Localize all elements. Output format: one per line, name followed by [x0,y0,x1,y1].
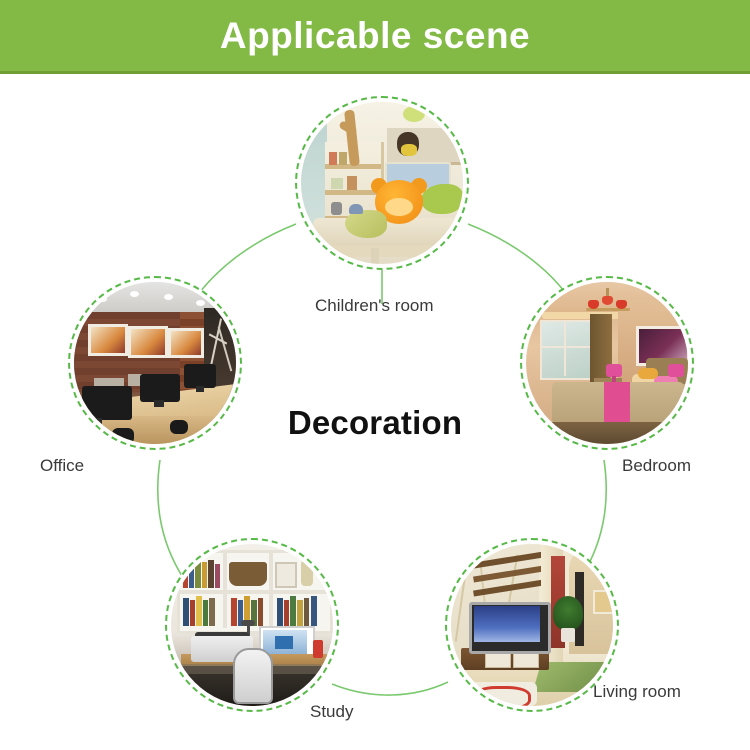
scene-label-children-room: Children's room [315,296,434,316]
children-room-photo [301,102,463,264]
scene-label-study: Study [310,702,353,722]
office-photo [74,282,236,444]
scene-label-living-room: Living room [593,682,681,702]
scene-circle-children-room[interactable] [295,96,469,270]
center-title: Decoration [250,404,500,442]
scene-circle-study[interactable] [165,538,339,712]
study-photo [171,544,333,706]
scene-circle-bedroom[interactable] [520,276,694,450]
page-title: Applicable scene [220,17,530,54]
header-band: Applicable scene [0,0,750,71]
scene-label-bedroom: Bedroom [622,456,691,476]
living-room-photo [451,544,613,706]
scene-circle-office[interactable] [68,276,242,450]
scene-label-office: Office [40,456,84,476]
bedroom-photo [526,282,688,444]
arc-study-living [332,682,448,695]
applicable-scene-diagram: Decoration Children's room [0,74,750,750]
